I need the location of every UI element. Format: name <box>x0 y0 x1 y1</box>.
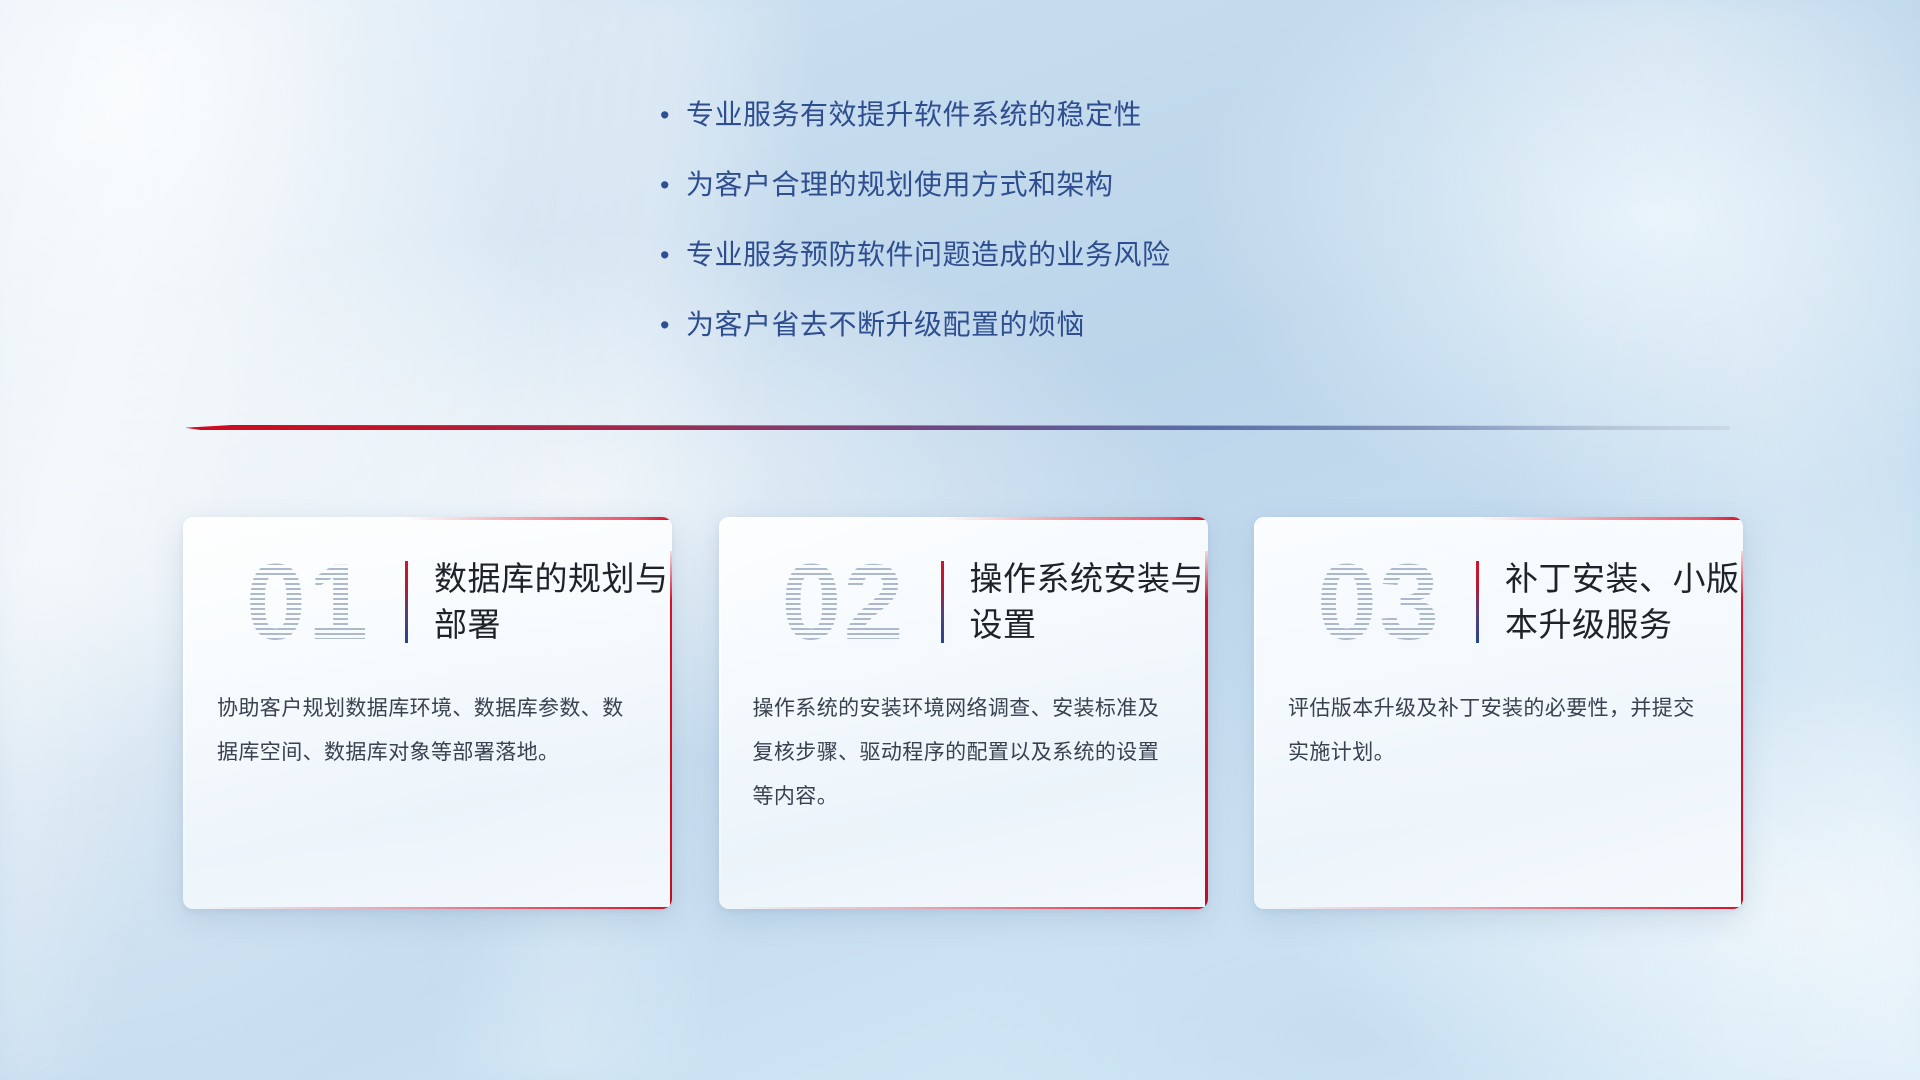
card-header: 03 补丁安装、小版本升级服务 <box>1254 517 1743 687</box>
card-separator-bar <box>405 561 408 643</box>
card-number: 02 <box>749 548 939 656</box>
list-item: • 专业服务有效提升软件系统的稳定性 <box>660 95 1420 135</box>
bullet-dot-icon: • <box>660 95 686 135</box>
card-body-text: 协助客户规划数据库环境、数据库参数、数据库空间、数据库对象等部署落地。 <box>183 687 672 775</box>
card-number: 03 <box>1284 548 1474 656</box>
card-title: 操作系统安装与设置 <box>970 556 1205 648</box>
card-number: 01 <box>213 548 403 656</box>
card-edge-bottom <box>201 907 672 910</box>
service-card[interactable]: 02 操作系统安装与设置 操作系统的安装环境网络调查、安装标准及复核步骤、驱动程… <box>719 517 1208 909</box>
bullet-text: 专业服务有效提升软件系统的稳定性 <box>686 95 1142 135</box>
list-item: • 专业服务预防软件问题造成的业务风险 <box>660 235 1420 275</box>
card-body-text: 操作系统的安装环境网络调查、安装标准及复核步骤、驱动程序的配置以及系统的设置等内… <box>719 687 1208 819</box>
card-separator-bar <box>941 561 944 643</box>
bullet-list: • 专业服务有效提升软件系统的稳定性 • 为客户合理的规划使用方式和架构 • 专… <box>660 95 1420 375</box>
list-item: • 为客户省去不断升级配置的烦恼 <box>660 305 1420 345</box>
bullet-text: 为客户合理的规划使用方式和架构 <box>686 165 1114 205</box>
card-title: 补丁安装、小版本升级服务 <box>1505 556 1740 648</box>
bullet-text: 为客户省去不断升级配置的烦恼 <box>686 305 1085 345</box>
card-body-text: 评估版本升级及补丁安装的必要性，并提交实施计划。 <box>1254 687 1743 775</box>
card-header: 02 操作系统安装与设置 <box>719 517 1208 687</box>
card-edge-bottom <box>1272 907 1743 910</box>
bullet-dot-icon: • <box>660 305 686 345</box>
card-separator-bar <box>1476 561 1479 643</box>
card-edge-bottom <box>737 907 1208 910</box>
section-divider <box>185 422 1730 434</box>
bullet-dot-icon: • <box>660 235 686 275</box>
slide-canvas: • 专业服务有效提升软件系统的稳定性 • 为客户合理的规划使用方式和架构 • 专… <box>0 0 1920 1080</box>
bullet-dot-icon: • <box>660 165 686 205</box>
card-title: 数据库的规划与部署 <box>434 556 669 648</box>
bullet-text: 专业服务预防软件问题造成的业务风险 <box>686 235 1171 275</box>
divider-line <box>185 425 1730 430</box>
card-row: 01 数据库的规划与部署 协助客户规划数据库环境、数据库参数、数据库空间、数据库… <box>183 517 1743 912</box>
service-card[interactable]: 01 数据库的规划与部署 协助客户规划数据库环境、数据库参数、数据库空间、数据库… <box>183 517 672 909</box>
list-item: • 为客户合理的规划使用方式和架构 <box>660 165 1420 205</box>
card-header: 01 数据库的规划与部署 <box>183 517 672 687</box>
service-card[interactable]: 03 补丁安装、小版本升级服务 评估版本升级及补丁安装的必要性，并提交实施计划。 <box>1254 517 1743 909</box>
